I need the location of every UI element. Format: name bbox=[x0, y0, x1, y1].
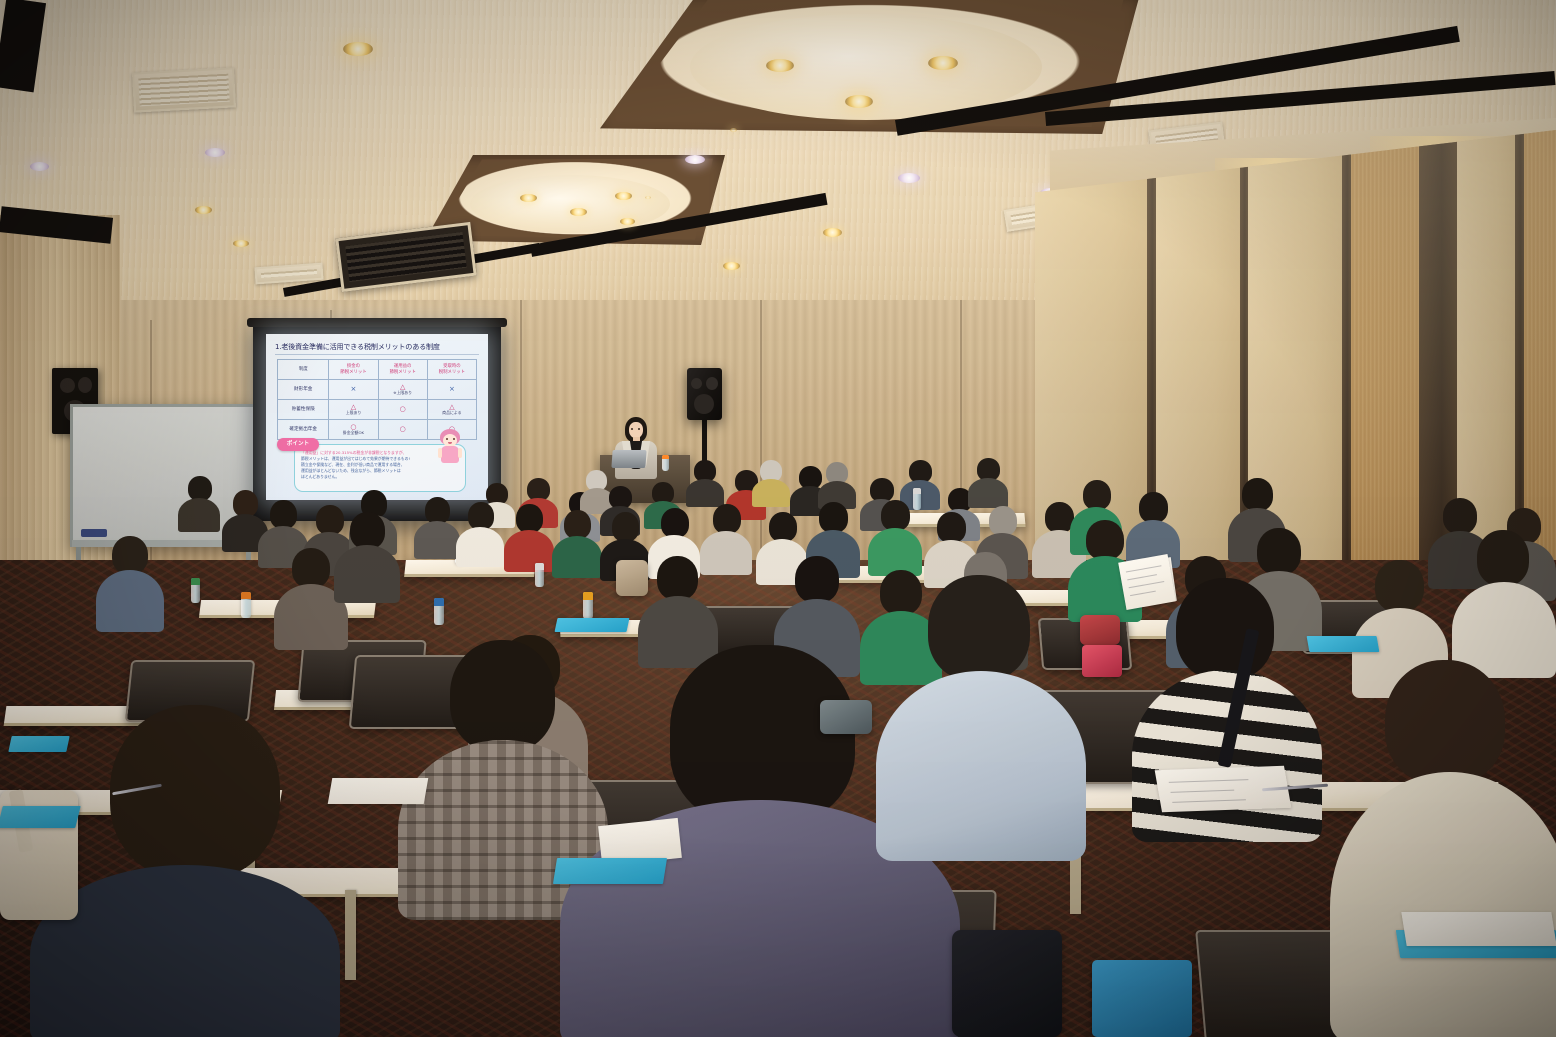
slide-point-box: ポイント 「運用益」に対する20.315%の税金が非課税となりますが、 節税メリ… bbox=[294, 444, 466, 492]
blue-folder bbox=[1307, 636, 1380, 652]
downlight-10 bbox=[685, 155, 705, 164]
blue-folder bbox=[553, 858, 667, 884]
water-bottle bbox=[191, 578, 200, 603]
handout-paper bbox=[328, 778, 429, 804]
table-leg bbox=[345, 890, 356, 980]
small-pouch bbox=[820, 700, 872, 734]
downlight-7 bbox=[343, 42, 373, 56]
slide-title: 1.老後資金準備に活用できる税制メリットのある制度 bbox=[275, 342, 480, 352]
table-row: 貯蓄性保険 △ 上限あり ○ △ 商品による bbox=[278, 400, 477, 420]
water-bottle bbox=[535, 563, 544, 587]
downlight-17 bbox=[233, 240, 249, 247]
water-bottle bbox=[434, 598, 444, 625]
downlight-15 bbox=[620, 218, 635, 225]
th-investment-gain: 運用益の 節税メリット bbox=[378, 360, 427, 380]
downlight-8 bbox=[205, 148, 225, 157]
row-label: 財形年金 bbox=[278, 380, 329, 400]
th-contribution: 掛金の 節税メリット bbox=[329, 360, 378, 380]
handbag bbox=[616, 560, 648, 596]
slide-surface: 1.老後資金準備に活用できる税制メリットのある制度 制度 掛金の 節税メリット … bbox=[266, 334, 488, 500]
row-label: 貯蓄性保険 bbox=[278, 400, 329, 420]
downlight-6 bbox=[570, 208, 587, 216]
handout-paper-held bbox=[1118, 554, 1176, 610]
ceiling-sensor-1 bbox=[730, 128, 737, 132]
downlight-3 bbox=[845, 95, 873, 108]
ceiling-oval-2 bbox=[470, 175, 670, 233]
table-header-row: 制度 掛金の 節税メリット 運用益の 節税メリット 受取時の 税制メリット bbox=[278, 360, 477, 380]
cell: △ 上限あり bbox=[329, 400, 378, 420]
screen-roller-housing bbox=[247, 318, 507, 327]
ceiling-sensor-2 bbox=[645, 196, 651, 199]
blue-tote-floor bbox=[1092, 960, 1192, 1037]
slide-title-rule bbox=[275, 354, 479, 355]
seminar-room-photo: 1.老後資金準備に活用できる税制メリットのある制度 制度 掛金の 節税メリット … bbox=[0, 0, 1556, 1037]
cell: ○ 掛金全額OK bbox=[329, 420, 378, 440]
downlight-16 bbox=[195, 206, 212, 214]
podium-water-bottle bbox=[662, 455, 669, 471]
water-bottle bbox=[241, 592, 251, 618]
cell: △ ※上限あり bbox=[378, 380, 427, 400]
cell: × bbox=[329, 380, 378, 400]
cell: ○ bbox=[378, 400, 427, 420]
downlight-9 bbox=[30, 162, 49, 171]
presenter-laptop bbox=[611, 450, 646, 468]
th-system: 制度 bbox=[278, 360, 329, 380]
ceiling-air-vent-1 bbox=[132, 67, 236, 112]
water-bottle bbox=[913, 488, 921, 510]
cell: △ 商品による bbox=[427, 400, 476, 420]
cell: ○ bbox=[378, 420, 427, 440]
downlight-14 bbox=[723, 262, 740, 270]
presenter bbox=[613, 417, 659, 479]
handout-paper bbox=[1401, 912, 1556, 946]
downlight-13 bbox=[823, 228, 842, 237]
cell: × bbox=[427, 380, 476, 400]
downlight-4 bbox=[520, 194, 537, 202]
point-text: 「運用益」に対する20.315%の税金が非課税となりますが、 節税メリットは、運… bbox=[301, 450, 441, 480]
pa-speaker bbox=[687, 368, 722, 420]
downlight-1 bbox=[766, 59, 794, 72]
whiteboard-marker bbox=[81, 529, 107, 537]
th-payout: 受取時の 税制メリット bbox=[427, 360, 476, 380]
water-bottle bbox=[583, 592, 593, 619]
downlight-2 bbox=[928, 56, 958, 70]
blue-folder bbox=[8, 736, 69, 752]
downlight-11 bbox=[898, 173, 920, 183]
mascot-character-icon bbox=[437, 429, 463, 469]
blue-folder bbox=[555, 618, 630, 632]
downlight-5 bbox=[615, 192, 632, 200]
blue-folder bbox=[0, 806, 81, 828]
slide-comparison-table: 制度 掛金の 節税メリット 運用益の 節税メリット 受取時の 税制メリット bbox=[277, 359, 477, 440]
handbag bbox=[1080, 615, 1120, 645]
pink-pouch bbox=[1082, 645, 1122, 677]
table-row: 財形年金 × △ ※上限あり × bbox=[278, 380, 477, 400]
row-label: 確定拠出年金 bbox=[278, 420, 329, 440]
black-bag-floor bbox=[952, 930, 1062, 1037]
